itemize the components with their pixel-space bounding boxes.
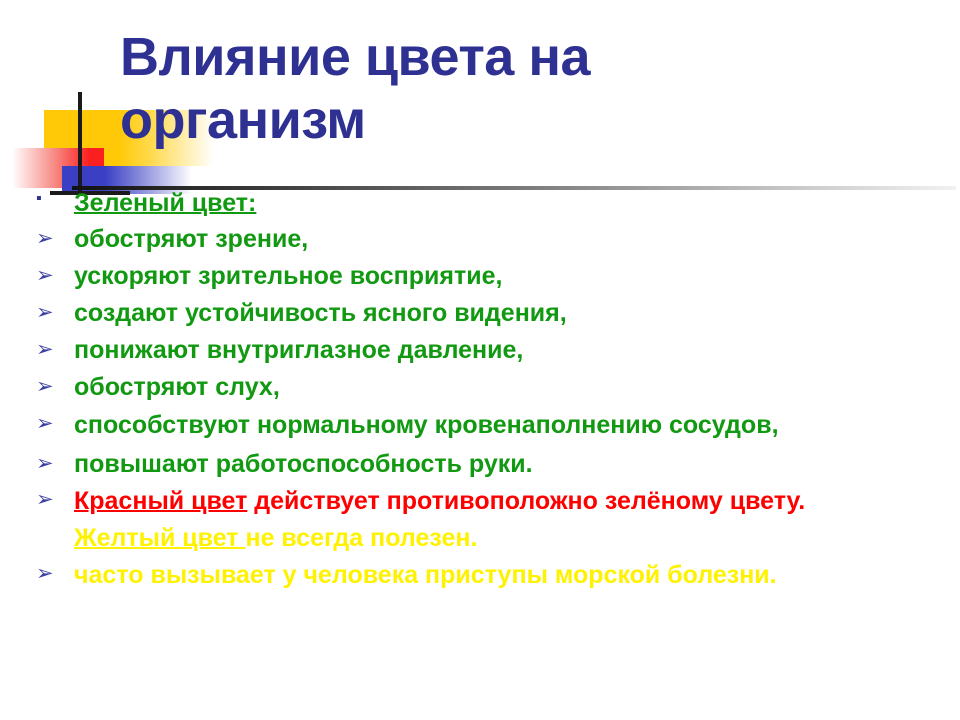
chevron-bullet-icon: ➢ [36, 488, 66, 512]
chevron-bullet-icon: ➢ [36, 338, 66, 362]
list-item-text: способствуют нормальному кровенаполнению… [74, 411, 779, 439]
list-item-heading: Желтый цвет [74, 524, 245, 552]
square-bullet-icon: ▪ [36, 190, 66, 208]
list-item: ➢ часто вызывает у человека приступы мор… [32, 562, 952, 590]
list-item-heading: Красный цвет [74, 487, 247, 515]
list-item-text: понижают внутриглазное давление, [74, 336, 523, 364]
content-list: ▪ Зеленый цвет: ➢ обостряют зрение, ➢ ус… [32, 190, 952, 590]
slide: Влияние цвета на организм ▪ Зеленый цвет… [0, 0, 960, 720]
list-item: ➢ обостряют слух, [32, 375, 952, 400]
chevron-bullet-icon: ➢ [36, 452, 66, 476]
list-item: ➢ ускоряют зрительное восприятие, [32, 264, 952, 289]
chevron-bullet-icon: ➢ [36, 562, 66, 586]
slide-title: Влияние цвета на организм [120, 26, 820, 151]
list-item: ➢ Красный цвет действует противоположно … [32, 488, 952, 516]
vertical-rule [78, 92, 82, 196]
chevron-bullet-icon: ➢ [36, 412, 66, 436]
list-item-heading: Зеленый цвет: [74, 189, 256, 217]
list-item-text: повышают работоспособность руки. [74, 450, 533, 478]
list-item-text: ускоряют зрительное восприятие, [74, 262, 502, 290]
list-item: ➢ способствуют нормальному кровенаполнен… [32, 412, 952, 440]
list-item-text: обостряют слух, [74, 373, 280, 401]
list-item-text: действует противоположно зелёному цвету. [247, 487, 805, 515]
list-item: ➢ обостряют зрение, [32, 227, 952, 252]
chevron-bullet-icon: ➢ [36, 375, 66, 399]
chevron-bullet-icon: ➢ [36, 301, 66, 325]
list-item: ➢ создают устойчивость ясного видения, [32, 301, 952, 326]
red-square-shape [12, 148, 104, 188]
list-item: ➢ повышают работоспособность руки. [32, 452, 952, 477]
list-item: ➢ понижают внутриглазное давление, [32, 338, 952, 363]
list-item-text: не всегда полезен. [245, 524, 477, 552]
chevron-bullet-icon: ➢ [36, 264, 66, 288]
list-item-text: создают устойчивость ясного видения, [74, 299, 567, 327]
chevron-bullet-icon: ➢ [36, 227, 66, 251]
list-item-text: обостряют зрение, [74, 225, 308, 253]
list-item: Желтый цвет не всегда полезен. [32, 526, 952, 551]
list-item: ▪ Зеленый цвет: [32, 190, 952, 216]
list-item-text: часто вызывает у человека приступы морск… [74, 561, 777, 589]
